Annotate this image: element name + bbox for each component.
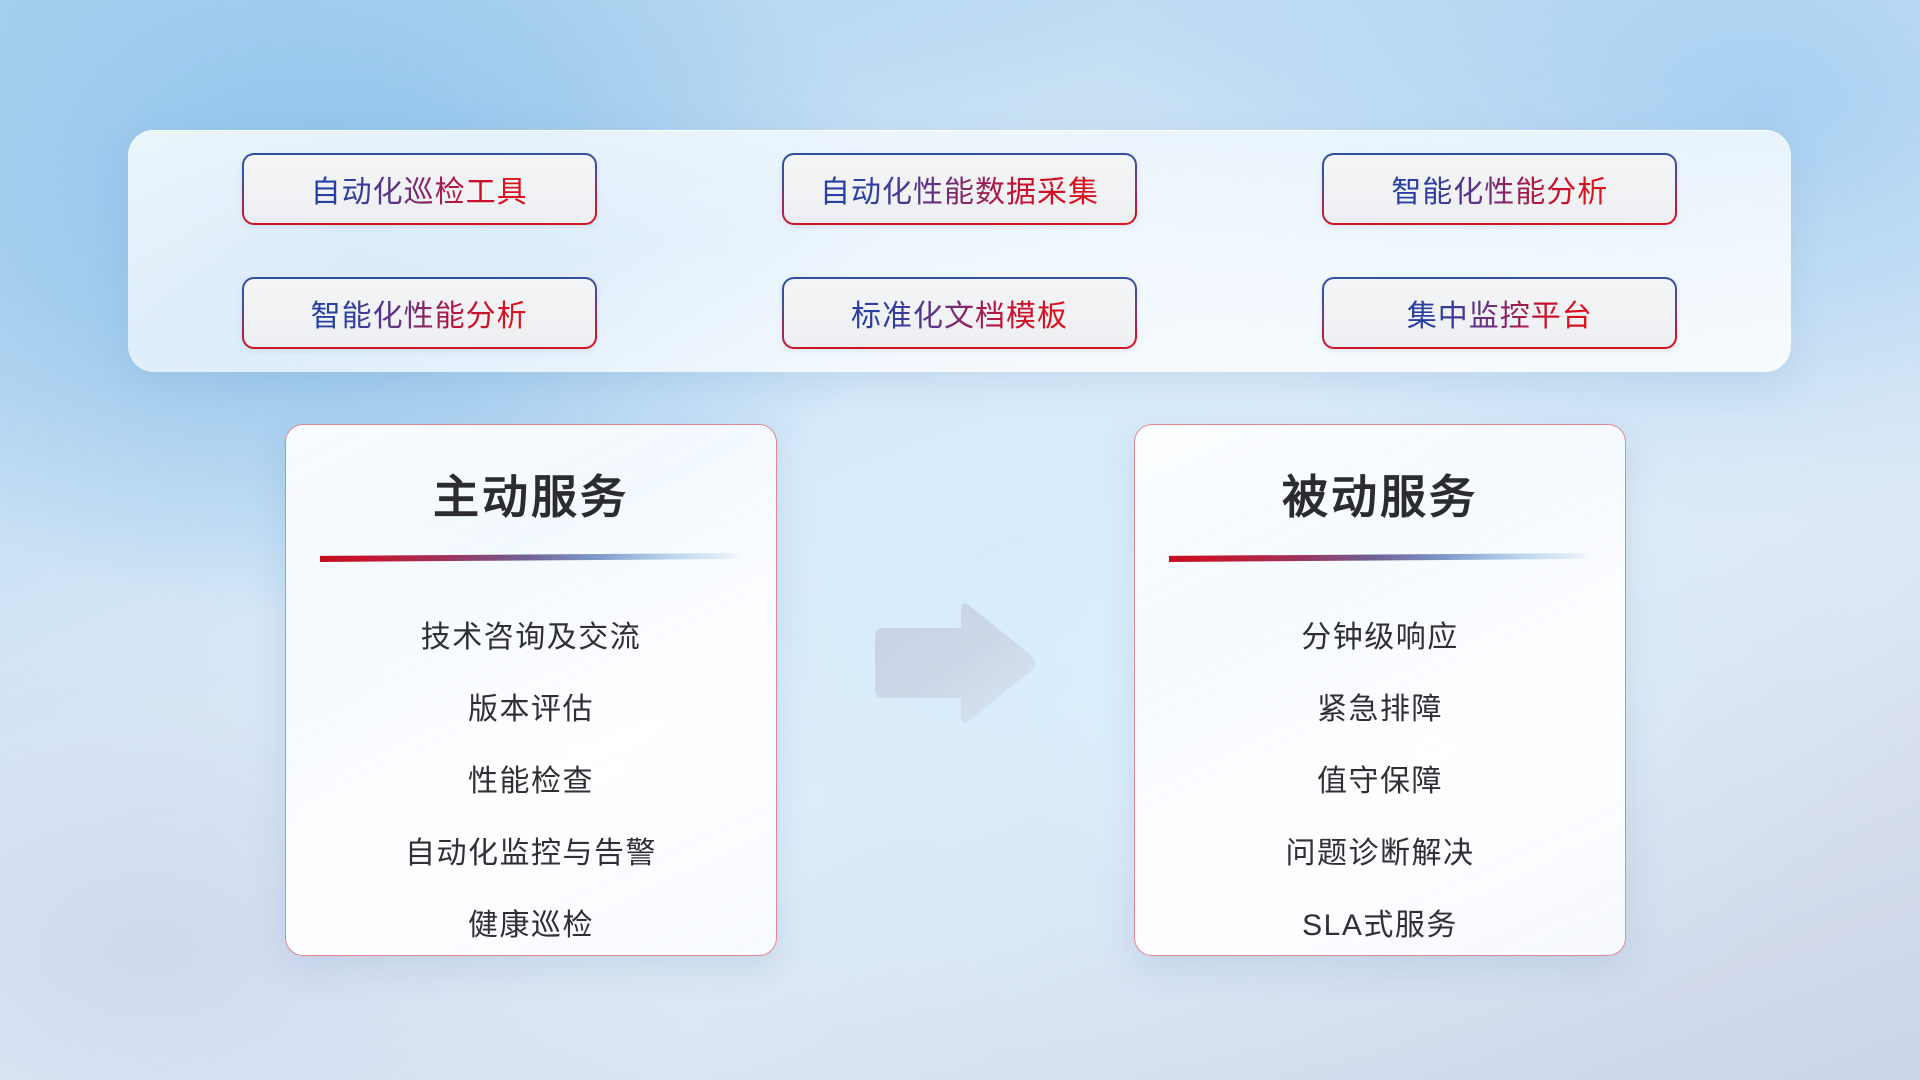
capability-chip-label: 标准化文档模板 [851, 291, 1068, 335]
service-card-proactive: 主动服务 技术咨询及交流 版本评估 性能检查 自动化监控与告警 健康巡检 [285, 424, 777, 956]
arrow-right-icon [865, 598, 1040, 728]
capability-chip-label: 智能化性能分析 [1391, 167, 1608, 211]
list-item: 问题诊断解决 [1286, 818, 1475, 890]
capability-panel: 自动化巡检工具 自动化性能数据采集 智能化性能分析 智能化性能分析 [128, 130, 1791, 372]
capability-chip-inner: 集中监控平台 [1324, 279, 1675, 347]
capability-chip[interactable]: 智能化性能分析 [1322, 153, 1677, 225]
capability-chip[interactable]: 智能化性能分析 [242, 277, 597, 349]
card-title-underline [1169, 553, 1591, 562]
list-item: 值守保障 [1317, 746, 1443, 818]
card-item-list: 分钟级响应 紧急排障 值守保障 问题诊断解决 SLA式服务 [1135, 602, 1625, 962]
capability-chip-label: 智能化性能分析 [311, 291, 528, 335]
list-item: 紧急排障 [1317, 674, 1443, 746]
capability-chip-label: 集中监控平台 [1407, 291, 1593, 335]
list-item: 版本评估 [468, 674, 594, 746]
capability-chip-inner: 智能化性能分析 [1324, 155, 1675, 223]
service-card-reactive: 被动服务 分钟级响应 紧急排障 值守保障 问题诊断解决 SLA式服务 [1134, 424, 1626, 956]
capability-chip[interactable]: 自动化巡检工具 [242, 153, 597, 225]
capability-chip-grid: 自动化巡检工具 自动化性能数据采集 智能化性能分析 智能化性能分析 [128, 130, 1791, 372]
list-item: SLA式服务 [1302, 890, 1458, 962]
capability-chip[interactable]: 标准化文档模板 [782, 277, 1137, 349]
card-item-list: 技术咨询及交流 版本评估 性能检查 自动化监控与告警 健康巡检 [286, 602, 776, 962]
list-item: 健康巡检 [468, 890, 594, 962]
list-item: 自动化监控与告警 [405, 818, 657, 890]
capability-chip[interactable]: 集中监控平台 [1322, 277, 1677, 349]
card-title-underline [320, 553, 742, 562]
capability-chip-inner: 智能化性能分析 [244, 279, 595, 347]
card-title: 主动服务 [286, 461, 776, 527]
capability-chip-label: 自动化性能数据采集 [820, 167, 1099, 211]
capability-chip-inner: 标准化文档模板 [784, 279, 1135, 347]
card-title: 被动服务 [1135, 461, 1625, 527]
capability-chip-inner: 自动化性能数据采集 [784, 155, 1135, 223]
list-item: 分钟级响应 [1301, 602, 1459, 674]
capability-chip-label: 自动化巡检工具 [311, 167, 528, 211]
list-item: 技术咨询及交流 [421, 602, 642, 674]
slide-canvas: 自动化巡检工具 自动化性能数据采集 智能化性能分析 智能化性能分析 [0, 0, 1920, 1080]
capability-chip-inner: 自动化巡检工具 [244, 155, 595, 223]
list-item: 性能检查 [468, 746, 594, 818]
capability-chip[interactable]: 自动化性能数据采集 [782, 153, 1137, 225]
